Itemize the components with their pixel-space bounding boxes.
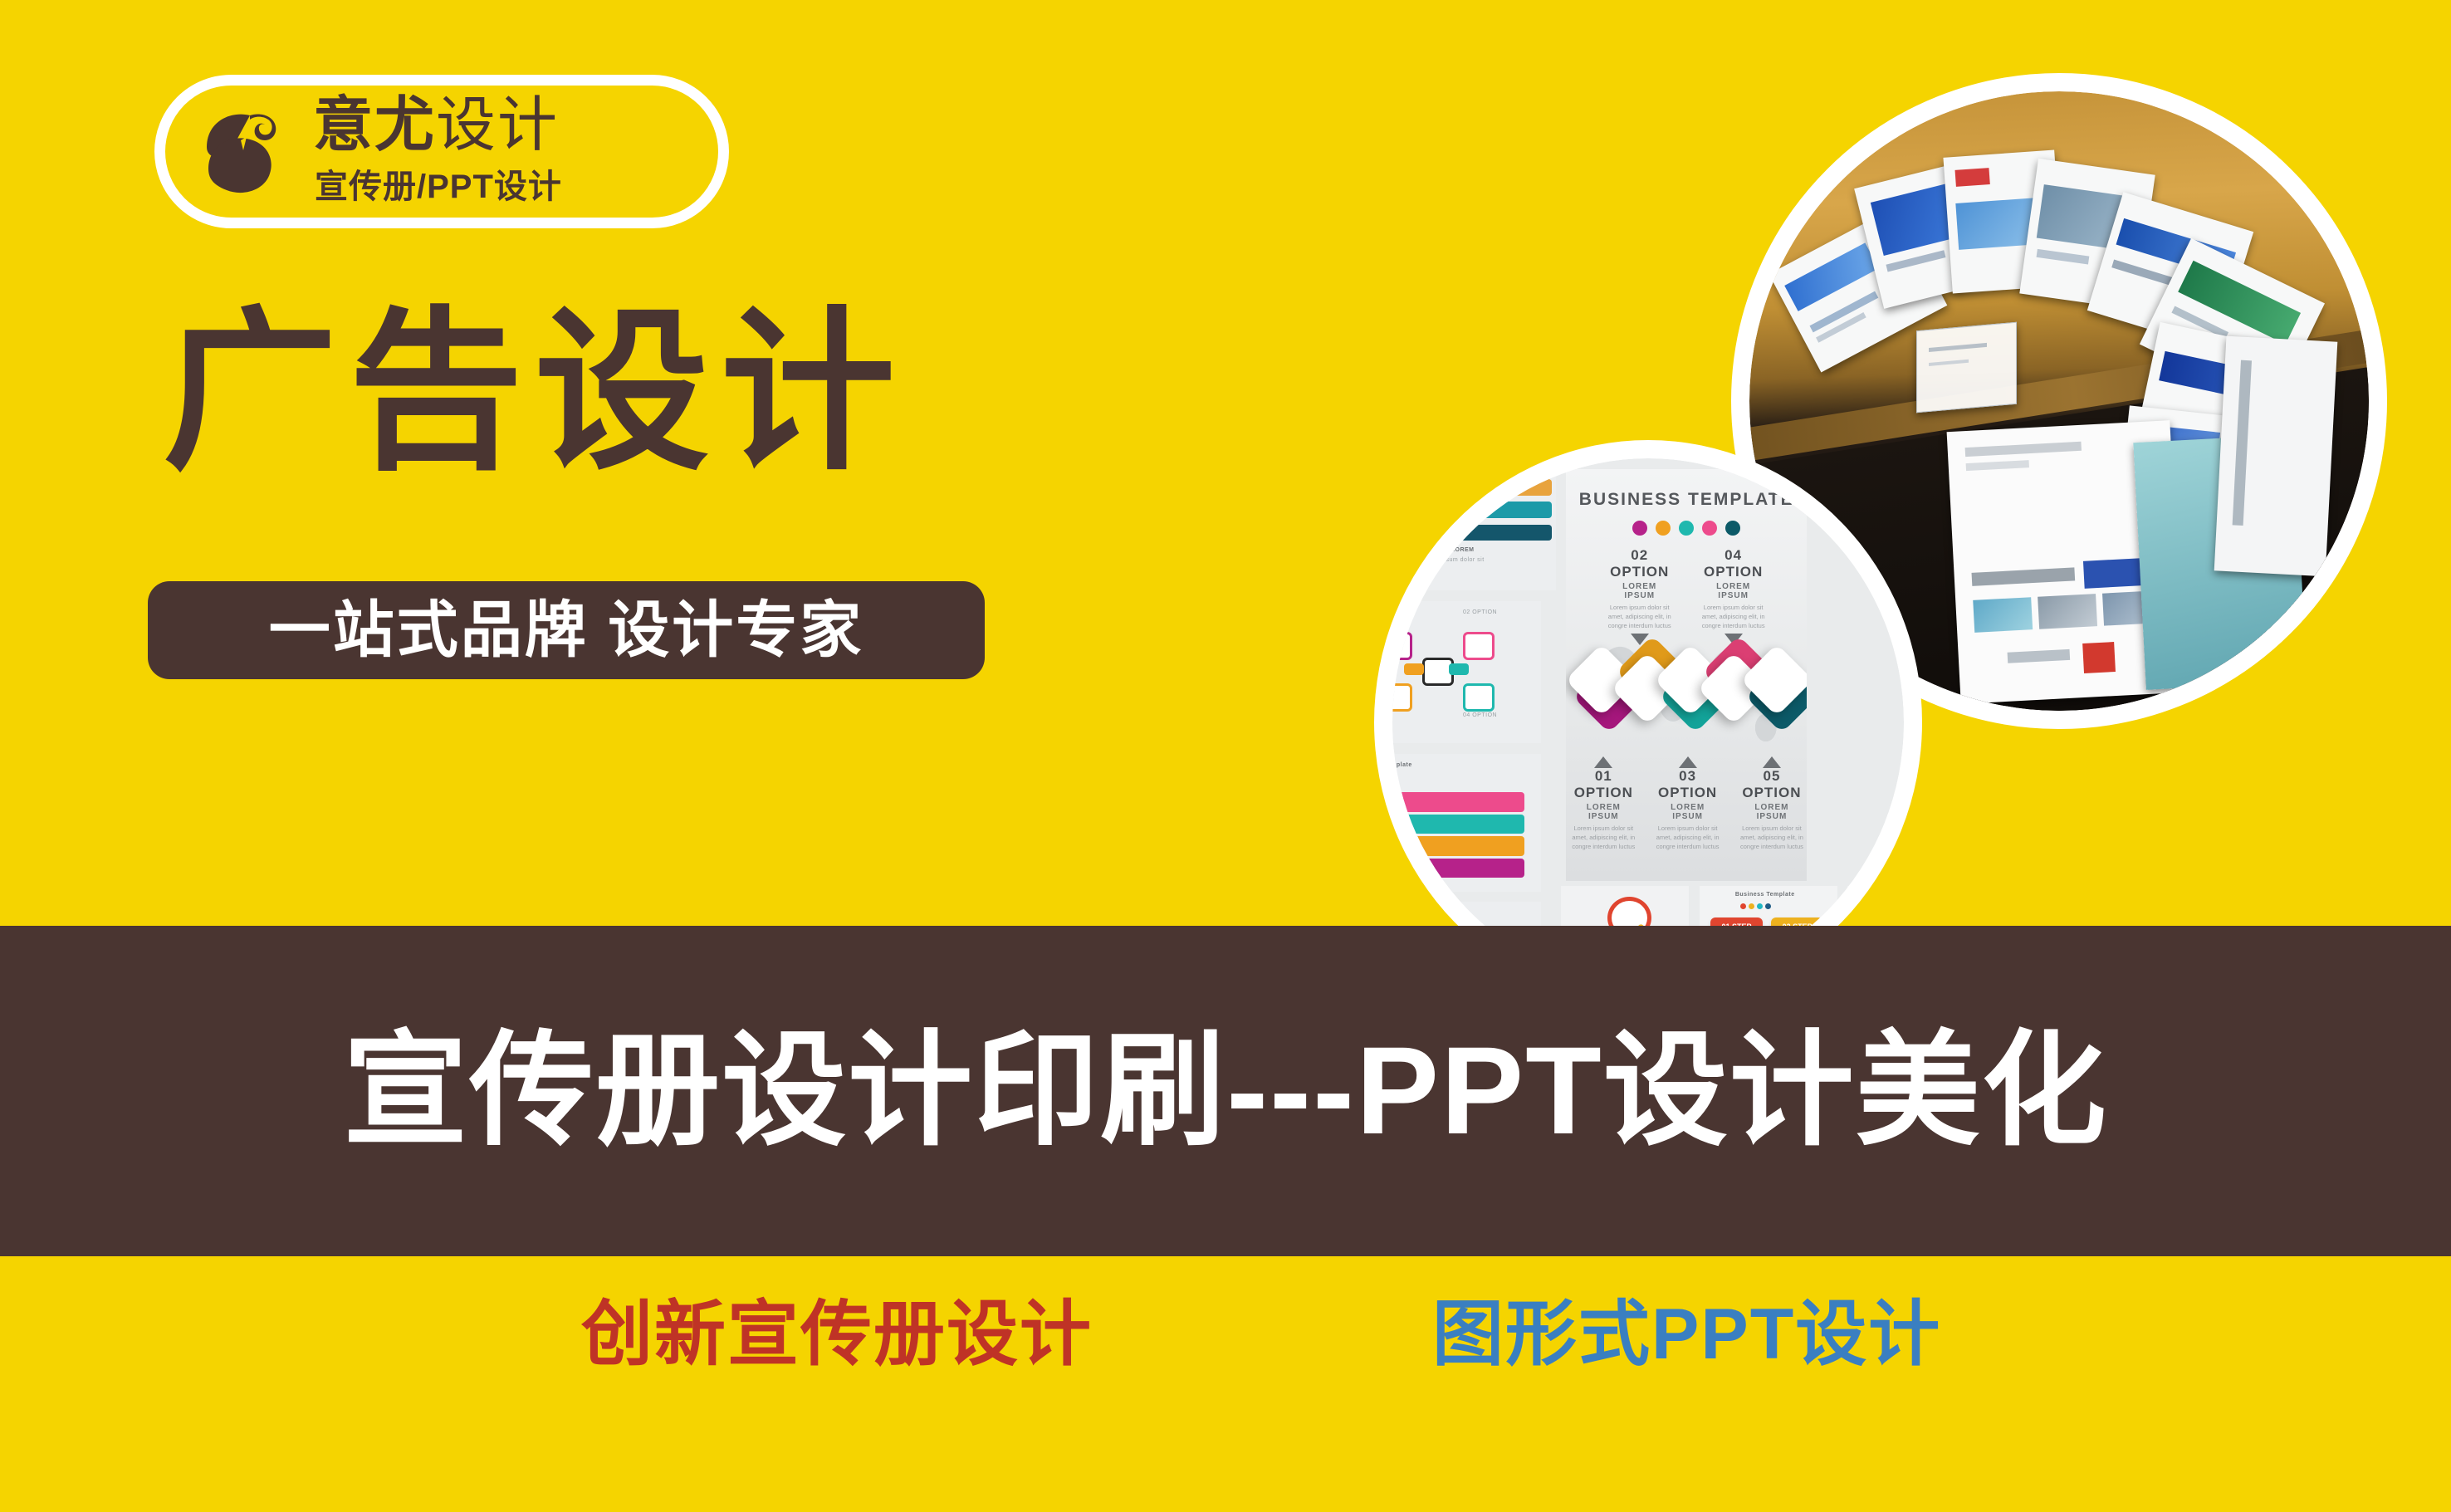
tagline-brochure: 创新宣传册设计 [581, 1289, 1093, 1380]
banner-bar-text: 宣传册设计印刷---PPT设计美化 [0, 970, 2451, 1211]
ppt-option-04: 04 OPTION LOREM IPSUM Lorem ipsum dolor … [1701, 547, 1766, 645]
ppt-slide-cross: 01 OPTION 02 OPTION 03 OPTION 04 OPTION [1392, 601, 1541, 744]
ppt-slide-pyramid: Business Template [1392, 754, 1541, 891]
ppt-option-03: 03 OPTION LOREM IPSUM Lorem ipsum dolor … [1656, 753, 1720, 851]
card-holder [1916, 322, 2017, 413]
ppt-main-slide: BUSINESS TEMPLATE 02 OPTION LOREM IPSUM … [1566, 469, 1807, 881]
logo-subtitle: 宣传册/PPT设计 [315, 167, 562, 207]
logo-badge: 意尤设计 宣传册/PPT设计 [154, 75, 729, 228]
ppt-option-05: 05 OPTION LOREM IPSUM Lorem ipsum dolor … [1739, 753, 1804, 851]
ppt-template-inner: LOREM Lorem ipsum dolor sit 01 OPTION 02… [1392, 458, 1904, 986]
slogan-badge-label: 一站式品牌 设计专家 [269, 596, 864, 664]
logo-brand-bold: 意尤 [313, 92, 436, 159]
ppt-option-01: 01 OPTION LOREM IPSUM Lorem ipsum dolor … [1571, 753, 1636, 851]
page-title: 广告设计 [163, 297, 907, 488]
ppt-slide-title: BUSINESS TEMPLATE [1566, 490, 1807, 510]
ppt-option-02: 02 OPTION LOREM IPSUM Lorem ipsum dolor … [1607, 547, 1672, 645]
ppt-color-dots [1566, 521, 1807, 536]
logo-brand-thin: 设计 [436, 92, 559, 159]
seed-sprout-logo-icon [188, 97, 295, 203]
side-brochure [2214, 336, 2338, 577]
slogan-badge: 一站式品牌 设计专家 [148, 581, 985, 679]
logo-title: 意尤设计 [313, 92, 559, 159]
tagline-ppt: 图形式PPT设计 [1432, 1289, 1941, 1380]
logo-text: 意尤设计 宣传册/PPT设计 [313, 91, 717, 223]
ppt-template-circle: LOREM Lorem ipsum dolor sit 01 OPTION 02… [1374, 440, 1922, 1005]
promo-banner: 意尤设计 宣传册/PPT设计 广告设计 一站式品牌 设计专家 [0, 0, 2451, 1512]
ppt-slide-ribbon: LOREM Lorem ipsum dolor sit [1392, 463, 1556, 590]
